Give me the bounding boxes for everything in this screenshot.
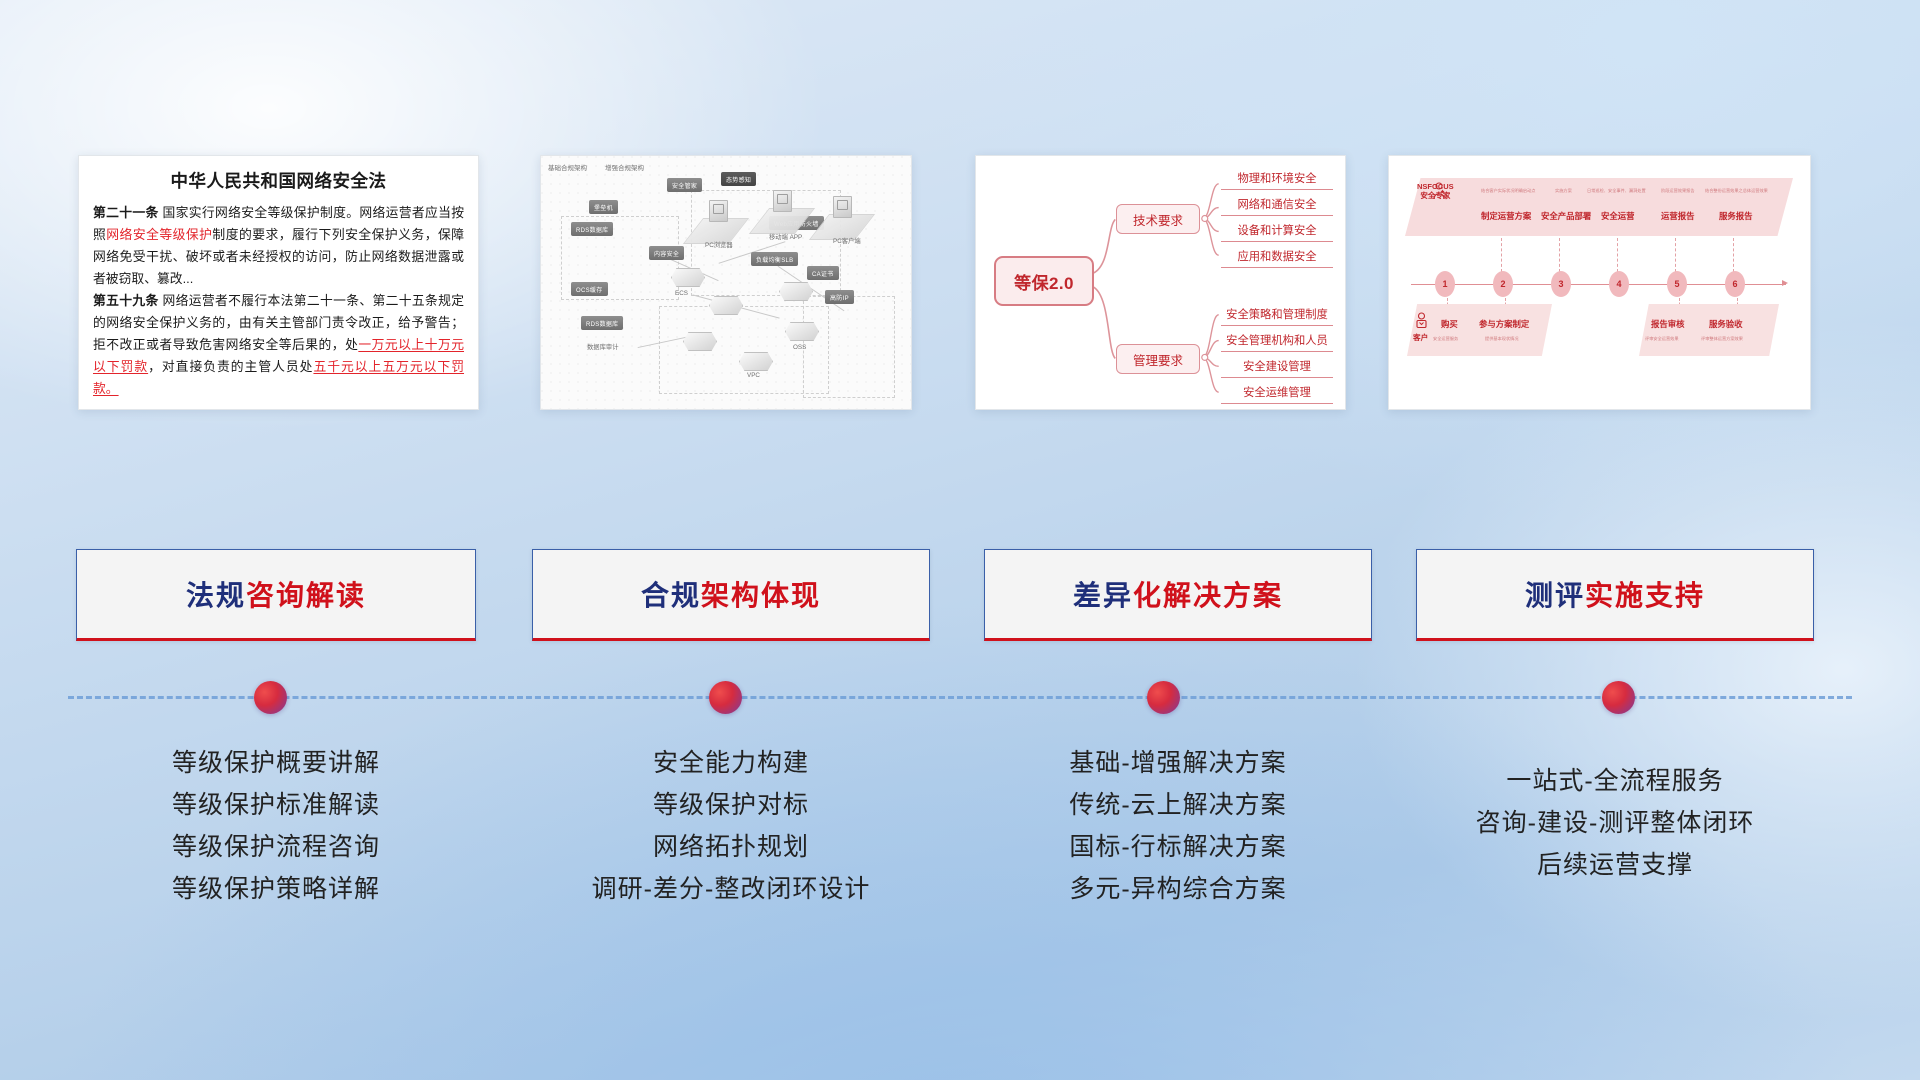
heading-4-blue: 测评: [1525, 574, 1585, 614]
nsfocus-br1-small: 评审安全运营效果: [1645, 336, 1679, 342]
timeline-dot-3[interactable]: [1147, 681, 1180, 714]
nsfocus-step4-big: 运营报告: [1661, 210, 1695, 222]
nsfocus-step5-big: 服务报告: [1719, 210, 1753, 222]
timeline-track: [68, 696, 1852, 699]
nsfocus-step1-small: 结合客户实际状况明确启动点: [1481, 188, 1535, 194]
nsfocus-node-1: 1: [1435, 271, 1455, 297]
arch-hex-ecs: [671, 268, 705, 287]
arch-hex-db: [683, 332, 717, 351]
mindmap-canvas: 等保2.0 技术要求 管理要求 物理和环境安全 网络和通信安全 设备和计算安全 …: [976, 156, 1345, 409]
architecture-canvas: 基础合规架构 增强合规架构 安全管家 态势感知 Web应用防火墙 堡垒机 RDS…: [541, 156, 911, 409]
arch-node-anti-ddos: 高防IP: [825, 290, 854, 304]
arch-node-content-security: 内容安全: [649, 246, 684, 260]
service-list-2: 安全能力构建 等级保护对标 网络拓扑规划 调研-差分-整改闭环设计: [532, 742, 930, 910]
nsfocus-canvas: NSFOCUS 安全专家 结合客户实际状况明确启动点 制定运营方案 实施方案 安…: [1389, 156, 1810, 409]
list-item: 调研-差分-整改闭环设计: [532, 868, 930, 910]
list-item: 网络拓扑规划: [532, 826, 930, 868]
arch-label-mobile-app: 移动端 APP: [769, 232, 802, 241]
arch-hex-ca: [779, 282, 813, 301]
nsfocus-node-2: 2: [1493, 271, 1513, 297]
arch-cube-2: [773, 190, 792, 212]
nsfocus-bl1-small: 安全运营服务: [1433, 336, 1458, 342]
list-item: 咨询-建设-测评整体闭环: [1416, 802, 1814, 844]
card-nsfocus-timeline: NSFOCUS 安全专家 结合客户实际状况明确启动点 制定运营方案 实施方案 安…: [1388, 155, 1811, 410]
customer-icon: [1415, 312, 1428, 329]
heading-1-blue: 法规: [186, 574, 246, 614]
mindmap-leaf-network-communication: 网络和通信安全: [1221, 196, 1333, 216]
nsfocus-bl2-big: 参与方案制定: [1479, 318, 1529, 330]
nsfocus-step1-big: 制定运营方案: [1481, 210, 1531, 222]
arch-cube-1: [709, 200, 728, 222]
heading-box-2[interactable]: 合规架构体现: [532, 549, 930, 641]
heading-box-3[interactable]: 差异化解决方案: [984, 549, 1372, 641]
nsfocus-step3-small: 日常巡检、安全事件、漏洞处置: [1587, 188, 1646, 194]
nsfocus-top-band: [1405, 178, 1793, 236]
arch-node-ocs: OCS缓存: [571, 282, 608, 296]
law-article-59: 第五十九条 网络运营者不履行本法第二十一条、第二十五条规定的网络安全保护义务的，…: [93, 290, 464, 400]
mindmap-root: 等保2.0: [994, 256, 1094, 306]
list-item: 国标-行标解决方案: [984, 826, 1372, 868]
list-item: 基础-增强解决方案: [984, 742, 1372, 784]
list-item: 传统-云上解决方案: [984, 784, 1372, 826]
law-title: 中华人民共和国网络安全法: [93, 168, 464, 193]
nsfocus-dash-4: [1675, 238, 1676, 272]
list-item: 等级保护对标: [532, 784, 930, 826]
nsfocus-node-6: 6: [1725, 271, 1745, 297]
arch-label-vpc: VPC: [747, 372, 760, 379]
arch-title-left: 基础合规架构: [548, 162, 587, 172]
nsfocus-bottom-band-left: [1407, 304, 1552, 356]
arch-node-situation-awareness: 态势感知: [721, 172, 756, 186]
arch-label-oss: OSS: [793, 344, 806, 351]
mindmap-leaf-physical-environment: 物理和环境安全: [1221, 170, 1333, 190]
mindmap-leaf-operations-mgmt: 安全运维管理: [1221, 384, 1333, 404]
list-item: 多元-异构综合方案: [984, 868, 1372, 910]
nsfocus-node-3: 3: [1551, 271, 1571, 297]
mindmap-leaf-application-data: 应用和数据安全: [1221, 248, 1333, 268]
poster-stage: 中华人民共和国网络安全法 第二十一条 国家实行网络安全等级保护制度。网络运营者应…: [0, 0, 1920, 1080]
heading-box-4[interactable]: 测评实施支持: [1416, 549, 1814, 641]
heading-box-1[interactable]: 法规咨询解读: [76, 549, 476, 641]
list-item: 等级保护标准解读: [76, 784, 476, 826]
nsfocus-customer-label: 客户: [1413, 332, 1428, 343]
service-list-1: 等级保护概要讲解 等级保护标准解读 等级保护流程咨询 等级保护策略详解: [76, 742, 476, 910]
nsfocus-step2-small: 实施方案: [1555, 188, 1572, 194]
law-article-21: 第二十一条 国家实行网络安全等级保护制度。网络运营者应当按照网络安全等级保护制度…: [93, 202, 464, 290]
mindmap-leaf-policy-system: 安全策略和管理制度: [1221, 306, 1333, 326]
nsfocus-logo: NSFOCUS 安全专家: [1417, 182, 1454, 201]
nsfocus-step4-small: 阶段运营效果报告: [1661, 188, 1695, 194]
arch-label-ecs: ECS: [675, 290, 688, 297]
mindmap-leaf-construction-mgmt: 安全建设管理: [1221, 358, 1333, 378]
list-item: 安全能力构建: [532, 742, 930, 784]
nsfocus-bl2-small: 提供基本现状情况: [1485, 336, 1519, 342]
service-list-4: 一站式-全流程服务 咨询-建设-测评整体闭环 后续运营支撑: [1416, 760, 1814, 886]
timeline-dot-4[interactable]: [1602, 681, 1635, 714]
arch-label-pc-browser: PC浏览器: [705, 240, 733, 249]
arch-cube-3: [833, 196, 852, 218]
arch-hex-oss: [785, 322, 819, 341]
heading-1-red: 咨询解读: [246, 574, 366, 614]
nsfocus-logo-line1: NSFOCUS: [1417, 182, 1454, 191]
nsfocus-step2-big: 安全产品部署: [1541, 210, 1591, 222]
heading-2-red: 架构体现: [701, 574, 821, 614]
arch-title-right: 增强合规架构: [605, 162, 644, 172]
arch-hex-vpc: [739, 352, 773, 371]
nsfocus-logo-line2: 安全专家: [1417, 191, 1454, 200]
arch-node-rds: RDS数据库: [571, 222, 613, 236]
arch-node-ca: CA证书: [807, 266, 839, 280]
arch-node-security-butler: 安全管家: [667, 178, 702, 192]
arch-label-db-audit: 数据库审计: [587, 342, 618, 351]
list-item: 一站式-全流程服务: [1416, 760, 1814, 802]
law-article-59-text-b: ，对直接负责的主管人员处: [148, 359, 313, 374]
list-item: 后续运营支撑: [1416, 844, 1814, 886]
arch-node-bastion: 堡垒机: [589, 200, 618, 214]
nsfocus-axis-arrow: [1782, 280, 1788, 286]
nsfocus-dash-2: [1559, 238, 1560, 272]
card-mindmap: 等保2.0 技术要求 管理要求 物理和环境安全 网络和通信安全 设备和计算安全 …: [975, 155, 1346, 410]
list-item: 等级保护概要讲解: [76, 742, 476, 784]
law-article-21-highlight: 网络安全等级保护: [106, 227, 212, 242]
mindmap-leaf-device-computing: 设备和计算安全: [1221, 222, 1333, 242]
arch-label-pc-client: PC客户端: [833, 236, 861, 245]
timeline-dot-1[interactable]: [254, 681, 287, 714]
arch-hex-slb: [709, 296, 743, 315]
nsfocus-step5-small: 结合整份运营效果之总体运营效果: [1705, 188, 1768, 194]
timeline-dot-2[interactable]: [709, 681, 742, 714]
list-item: 等级保护策略详解: [76, 868, 476, 910]
arch-node-slb: 负载均衡SLB: [751, 252, 798, 266]
nsfocus-node-4: 4: [1609, 271, 1629, 297]
nsfocus-dash-5: [1733, 238, 1734, 272]
nsfocus-dash-3: [1617, 238, 1618, 272]
nsfocus-bottom-band-right: [1639, 304, 1779, 356]
nsfocus-node-5: 5: [1667, 271, 1687, 297]
law-article-21-label: 第二十一条: [93, 205, 159, 220]
card-law-document: 中华人民共和国网络安全法 第二十一条 国家实行网络安全等级保护制度。网络运营者应…: [78, 155, 479, 410]
arch-node-rds-db: RDS数据库: [581, 316, 623, 330]
card-architecture-diagram: 基础合规架构 增强合规架构 安全管家 态势感知 Web应用防火墙 堡垒机 RDS…: [540, 155, 912, 410]
nsfocus-br2-small: 评审整体运营方案效果: [1701, 336, 1743, 342]
list-item: 等级保护流程咨询: [76, 826, 476, 868]
nsfocus-bl1-big: 购买: [1441, 318, 1458, 330]
nsfocus-br1-big: 报告审核: [1651, 318, 1685, 330]
nsfocus-step3-big: 安全运营: [1601, 210, 1635, 222]
nsfocus-dash-1: [1501, 238, 1502, 272]
law-article-59-label: 第五十九条: [93, 293, 159, 308]
nsfocus-br2-big: 服务验收: [1709, 318, 1743, 330]
arch-zone-right: [803, 296, 895, 398]
heading-4-red: 实施支持: [1585, 574, 1705, 614]
heading-3-red: 化解决方案: [1133, 574, 1283, 614]
service-list-3: 基础-增强解决方案 传统-云上解决方案 国标-行标解决方案 多元-异构综合方案: [984, 742, 1372, 910]
mindmap-branch-technical: 技术要求: [1116, 204, 1200, 234]
heading-3-blue: 差异: [1073, 574, 1133, 614]
mindmap-branch-management: 管理要求: [1116, 344, 1200, 374]
mindmap-leaf-org-personnel: 安全管理机构和人员: [1221, 332, 1333, 352]
heading-2-blue: 合规: [641, 574, 701, 614]
law-document-body: 中华人民共和国网络安全法 第二十一条 国家实行网络安全等级保护制度。网络运营者应…: [79, 156, 478, 400]
